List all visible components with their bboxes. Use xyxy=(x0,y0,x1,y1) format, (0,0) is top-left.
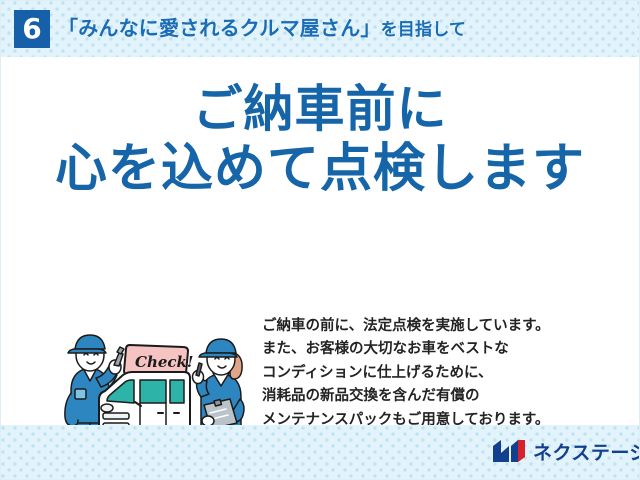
speech-bubble-text: Check! xyxy=(135,353,194,371)
header-title-tail: を目指して xyxy=(381,20,467,39)
body-line-3: コンディションに仕上げるために、 xyxy=(262,362,622,385)
body-line-2: また、お客様の大切なお車をベストな xyxy=(262,338,622,361)
headline-line-1: ご納車前に xyxy=(0,83,640,136)
brand-wordmark: ネクステージ xyxy=(533,444,640,463)
headline-line-2: 心を込めて点検します xyxy=(0,142,640,197)
page-title: ご納車前に 心を込めて点検します xyxy=(0,83,640,197)
advertisement-page: 6 「みんなに愛されるクルマ屋さん」を目指して ご納車前に 心を込めて点検します xyxy=(0,0,640,480)
header-title: 「みんなに愛されるクルマ屋さん」を目指して xyxy=(58,13,466,45)
header-title-quoted: 「みんなに愛されるクルマ屋さん」 xyxy=(58,18,381,40)
nexstage-n-mark-icon xyxy=(492,439,526,468)
step-number-badge: 6 xyxy=(14,10,50,48)
body-line-4: 消耗品の新品交換を含んだ有償の xyxy=(262,385,622,408)
brand-logo: ネクステージ xyxy=(492,438,640,468)
body-line-1: ご納車の前に、法定点検を実施しています。 xyxy=(262,315,622,338)
content-area: ご納車前に 心を込めて点検します xyxy=(0,57,640,425)
